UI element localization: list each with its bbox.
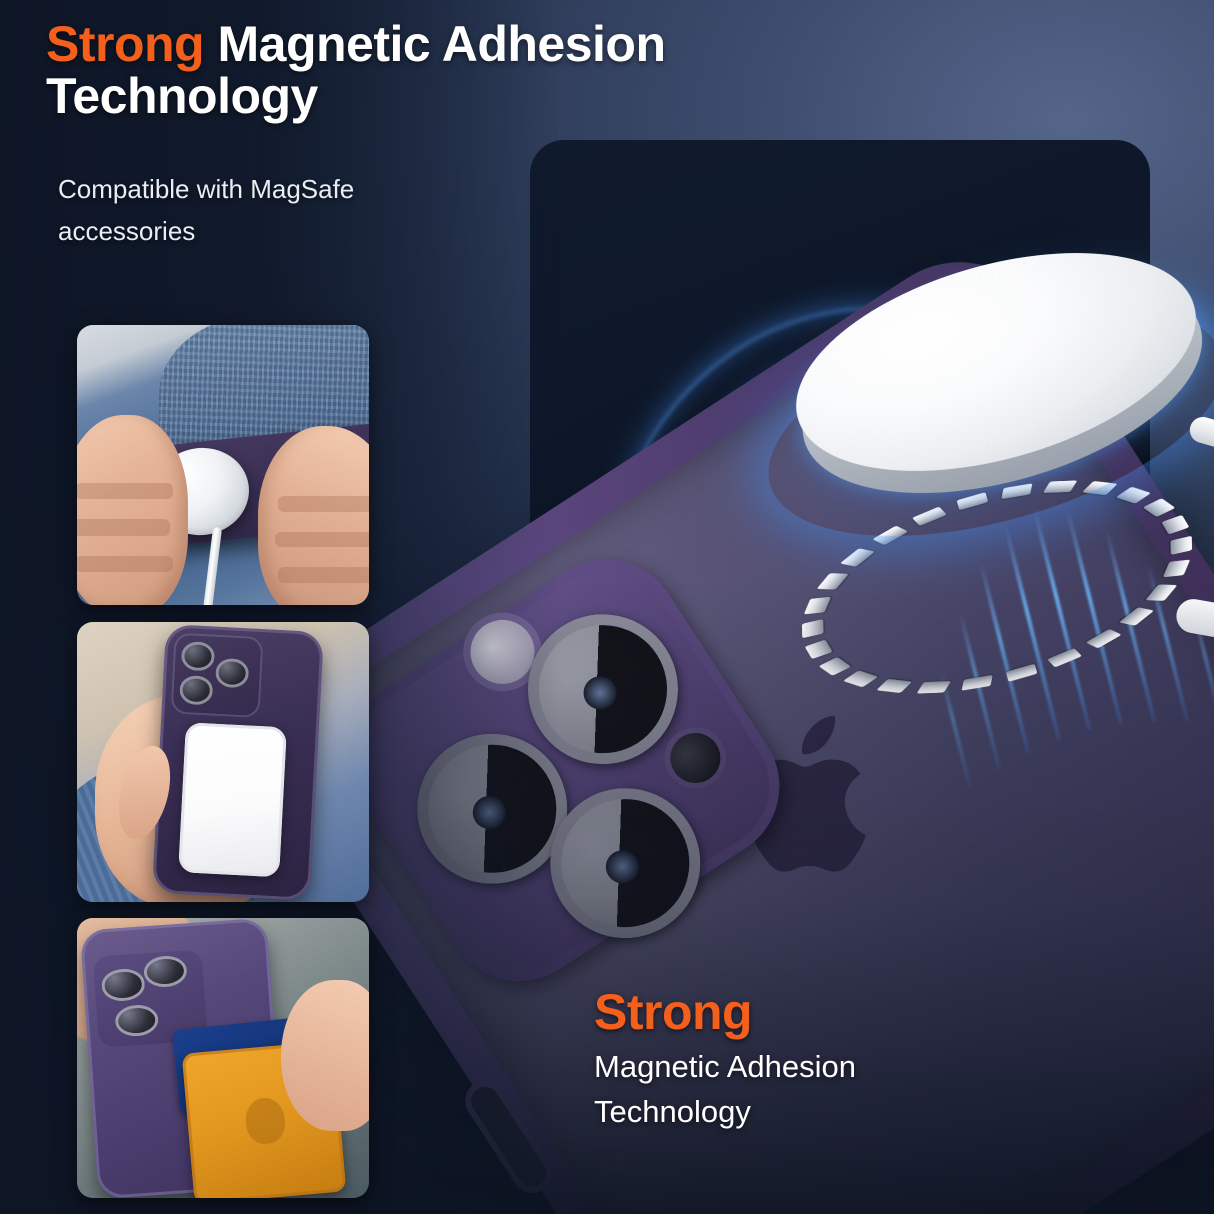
thumbnail-battery-pack[interactable]	[77, 622, 369, 902]
product-image-stage: Strong Magnetic Adhesion Technology Comp…	[0, 0, 1214, 1214]
hero-caption: Strong Magnetic Adhesion Technology	[594, 986, 1024, 1135]
camera-lens	[522, 759, 729, 966]
mute-switch-cutout	[458, 1073, 560, 1200]
magnetic-field-line	[1147, 564, 1190, 722]
thumbnail-magsafe-charger[interactable]	[77, 325, 369, 605]
subtitle-line-2: accessories	[58, 216, 195, 246]
magsafe-cable	[1187, 414, 1214, 472]
magnet-segment	[1163, 560, 1190, 578]
caption-body: Magnetic Adhesion Technology	[594, 1045, 1024, 1135]
page-subtitle: Compatible with MagSafe accessories	[58, 168, 528, 252]
headline-line-2: Technology	[46, 68, 318, 124]
headline-accent-word: Strong	[46, 16, 204, 72]
thumbnail-image	[77, 325, 369, 605]
caption-line-2: Technology	[594, 1094, 751, 1129]
magnet-segment	[1145, 584, 1177, 600]
thumbnail-image	[77, 918, 369, 1198]
magsafe-cable-tail	[1174, 596, 1214, 645]
magnet-segment	[1161, 515, 1189, 535]
caption-accent-word: Strong	[594, 986, 1024, 1039]
hero-backdrop-panel	[530, 140, 1150, 760]
magnetic-field-line	[1191, 607, 1214, 724]
thumbnail-image	[77, 622, 369, 902]
subtitle-line-1: Compatible with MagSafe	[58, 174, 354, 204]
thumbnail-card-wallet[interactable]	[77, 918, 369, 1198]
page-title: Strong Magnetic Adhesion Technology	[46, 18, 886, 122]
magnet-segment	[1170, 536, 1192, 555]
headline-rest: Magnetic Adhesion	[204, 16, 665, 72]
caption-line-1: Magnetic Adhesion	[594, 1049, 856, 1084]
